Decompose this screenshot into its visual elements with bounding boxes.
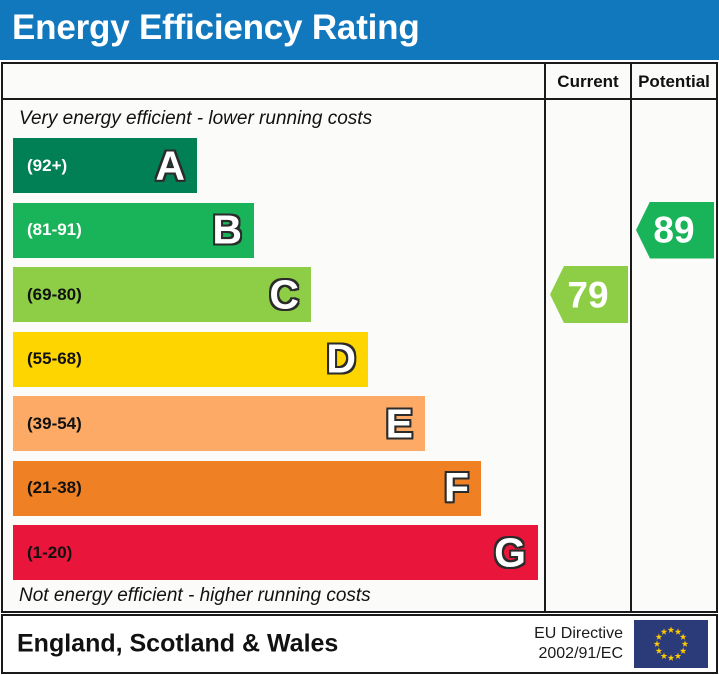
potential-rating-arrow-value: 89 [636,212,712,249]
band-f: (21-38)F [13,461,481,516]
footer-directive: EU Directive 2002/91/EC [534,624,623,664]
eu-flag-icon [634,620,708,668]
energy-efficiency-rating-chart: Energy Efficiency Rating Current Potenti… [0,0,719,675]
band-range-g: (1-20) [27,543,72,563]
band-letter-g: G [494,532,526,573]
band-range-d: (55-68) [27,349,82,369]
current-rating-arrow: 79 [550,266,628,323]
band-range-e: (39-54) [27,414,82,434]
column-header-current: Current [544,64,630,100]
band-d: (55-68)D [13,332,368,387]
band-letter-f: F [444,468,469,509]
footer-directive-line2: 2002/91/EC [534,644,623,664]
band-letter-a: A [155,145,185,186]
column-header-potential: Potential [630,64,716,100]
page-title: Energy Efficiency Rating [12,8,420,48]
band-letter-c: C [269,274,299,315]
column-divider-potential [630,100,632,611]
band-letter-d: D [326,339,356,380]
band-letter-b: B [212,210,242,251]
band-range-f: (21-38) [27,478,82,498]
band-range-b: (81-91) [27,220,82,240]
rating-table: Current Potential Very energy efficient … [1,62,718,613]
chart-footer: England, Scotland & Wales EU Directive 2… [1,614,718,674]
band-letter-e: E [386,403,413,444]
footer-region-label: England, Scotland & Wales [17,630,338,659]
band-b: (81-91)B [13,203,254,258]
band-e: (39-54)E [13,396,425,451]
band-c: (69-80)C [13,267,311,322]
band-range-c: (69-80) [27,285,82,305]
current-rating-arrow-value: 79 [550,276,626,313]
column-divider-current [544,100,546,611]
band-list: (92+)A(81-91)B(69-80)C(55-68)D(39-54)E(2… [3,64,544,613]
band-a: (92+)A [13,138,197,193]
band-range-a: (92+) [27,156,67,176]
potential-rating-arrow: 89 [636,202,714,259]
footer-directive-line1: EU Directive [534,624,623,644]
chart-title-bar: Energy Efficiency Rating [0,0,719,60]
band-g: (1-20)G [13,525,538,580]
